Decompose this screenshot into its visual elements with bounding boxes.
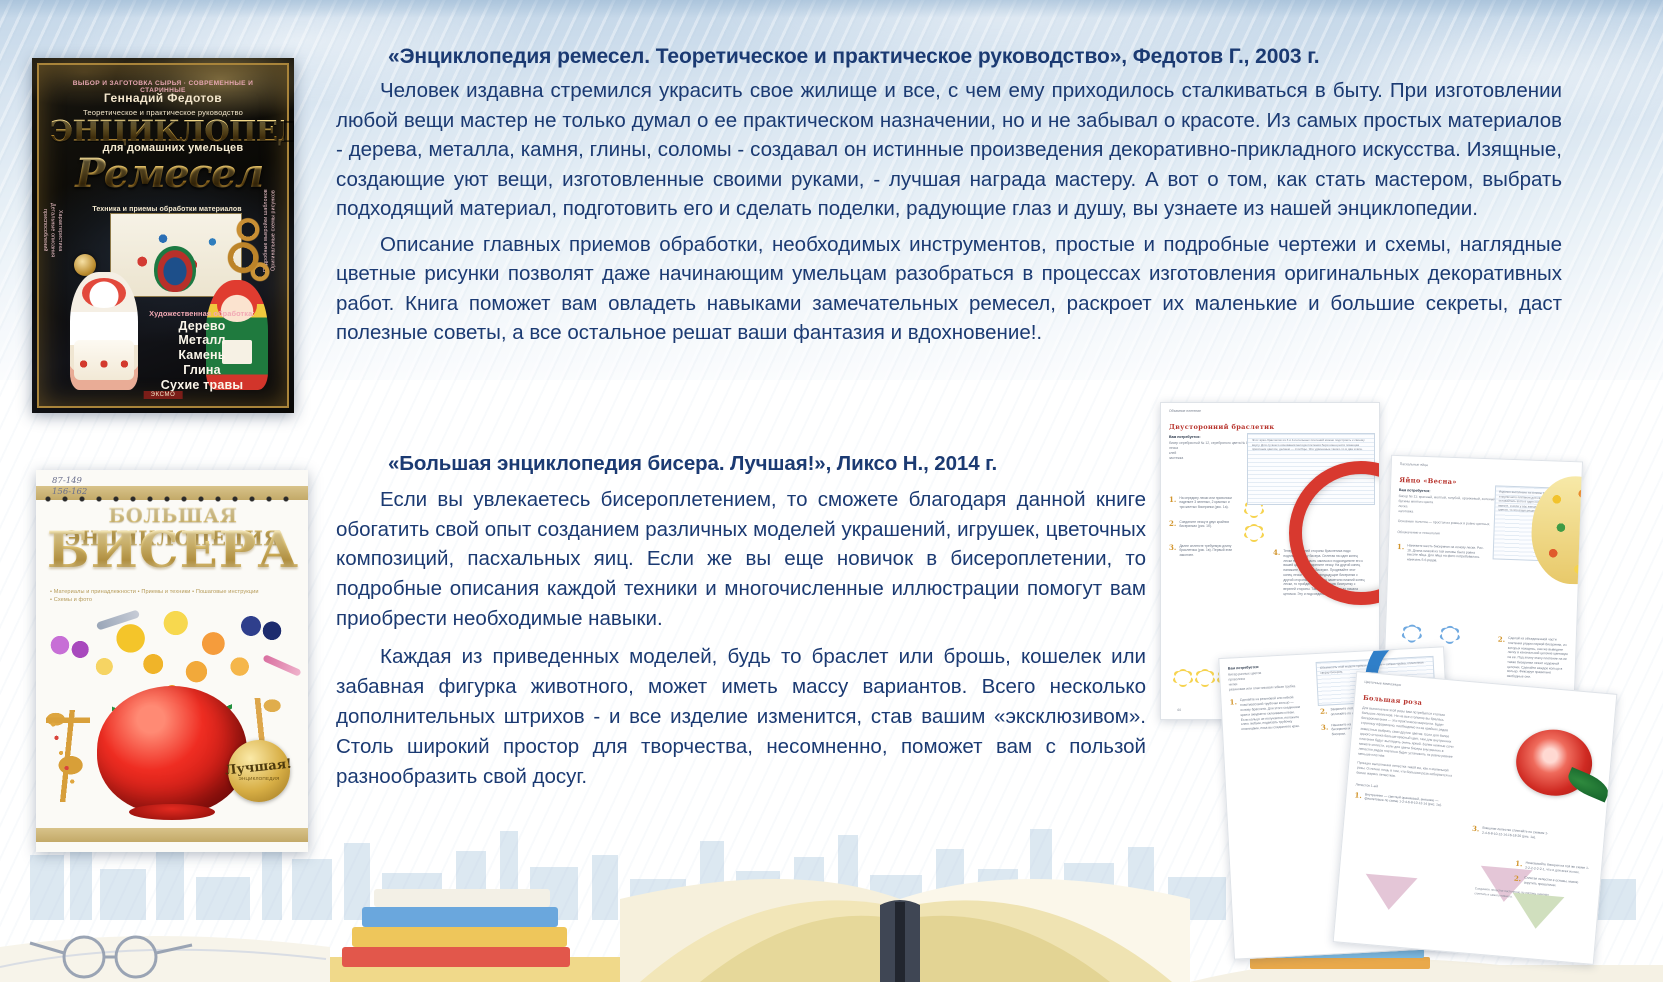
section-2-heading: «Большая энциклопедия бисера. Лучшая!», … — [388, 451, 1146, 477]
step-2-block: 2. Сделай из объединенной части плетения… — [1496, 636, 1569, 681]
cover-materials-label: Художественная обработка: — [132, 310, 272, 319]
petal-triangle-diagram — [1363, 874, 1418, 912]
cover-material-item: Металл — [132, 333, 272, 348]
beaded-dragonfly-pink — [262, 654, 301, 677]
top-blue-edge — [0, 0, 1663, 18]
step-text: Внешние лепестки сплетайте по схемам 1-2… — [1482, 826, 1550, 841]
page-step: 2. Сделай из объединенной части плетения… — [1496, 636, 1569, 681]
step-text: На середину лески или проволоки наденьте… — [1179, 496, 1233, 516]
section-1-paragraph-2: Описание главных приемов обработки, необ… — [336, 230, 1562, 348]
page-body: Для выполнения этой розы вам потребуется… — [1358, 706, 1458, 765]
beaded-strand — [42, 716, 98, 800]
page-step: 2. Сплетая лепестки в основы, можно скру… — [1513, 875, 1588, 891]
page-running-head: Объемное плетение — [1169, 409, 1371, 414]
page-body-2: Принцип выполнения лепестка такой же, ка… — [1356, 761, 1453, 785]
bead-flower-diagrams — [1404, 626, 1458, 642]
step-text: Нанижите шесть бисеринок на основу лески… — [1407, 543, 1486, 565]
section-1-heading: «Энциклопедия ремесел. Теоретическое и п… — [388, 44, 1562, 70]
page-title: Двусторонний браслетик — [1169, 423, 1371, 431]
step-text: Далее сплетите требуемую длину браслетик… — [1179, 544, 1233, 558]
cover-materials-list: Художественная обработка: Дерево Металл … — [132, 310, 272, 392]
step-text: Соедините леску в двух крайних бисеринка… — [1179, 520, 1233, 540]
book-section-beads: «Большая энциклопедия бисера. Лучшая!», … — [336, 450, 1146, 792]
page-step: 1. Нанизывайте бисерин на той же схеме 1… — [1515, 860, 1590, 876]
best-badge: Лучшая! ЭНЦИКЛОПЕДИЯ — [228, 740, 290, 802]
step-number: 4. — [1273, 549, 1280, 597]
cover-publisher-logo: ЭКСМО — [144, 391, 183, 399]
collage-page-big-rose: Цветочные композиции Большая роза Для вы… — [1333, 671, 1618, 965]
cover-material-item: Камень — [132, 348, 272, 363]
best-badge-title: Лучшая! — [225, 758, 293, 778]
cover2-handwritten-note: 87-149 156-162 — [52, 476, 87, 497]
step-number: 1. — [1229, 699, 1238, 733]
red-glass-vase — [97, 686, 247, 814]
step-text: Сделай из объединенной части плетения ря… — [1507, 636, 1570, 681]
cover-title-script: Ремесел — [50, 150, 288, 197]
step-number: 1. — [1169, 496, 1176, 516]
step-number: 3. — [1472, 825, 1480, 835]
book-page-collage: Объемное плетение Двусторонний браслетик… — [1148, 396, 1663, 956]
step-text: Нанизывайте бисерин на той же схеме 1-2-… — [1525, 861, 1589, 876]
cover2-bottom-band — [36, 828, 308, 842]
cover-ceramic-figure-photo — [70, 272, 138, 390]
step-number: 2. — [1513, 875, 1521, 885]
cover-straw-weaving-photo — [218, 214, 278, 292]
step-3-block: 3. Внешние лепестки сплетайте по схемам … — [1472, 825, 1551, 841]
step-text: Сделайте из резиновой или гибкой пластма… — [1240, 695, 1304, 732]
step-text: Внутренние — светлый оранжевый, внешние … — [1364, 792, 1449, 809]
right-steps-block: 1. Нанизывайте бисерин на той же схеме 1… — [1510, 860, 1590, 933]
cover-material-item: Глина — [132, 363, 272, 378]
section-1-heading-wrap: «Энциклопедия ремесел. Теоретическое и п… — [336, 44, 1562, 70]
book-section-crafts: «Энциклопедия ремесел. Теоретическое и п… — [336, 44, 1562, 348]
step-number: 1. — [1515, 860, 1523, 870]
cover-technique-line: Техника и приемы обработки материалов — [58, 206, 276, 213]
cover2-artwork: Лучшая! ЭНЦИКЛОПЕДИЯ — [36, 602, 308, 824]
step-number: 2. — [1320, 707, 1328, 717]
cover2-title-main: БИСЕРА — [44, 520, 302, 579]
page-step: 3. Внешние лепестки сплетайте по схемам … — [1472, 825, 1551, 841]
step-number: 3. — [1321, 723, 1329, 738]
beaded-rose-photo — [1513, 726, 1594, 798]
best-badge-subtitle: ЭНЦИКЛОПЕДИЯ — [238, 776, 279, 781]
bead-diagram — [1246, 526, 1262, 540]
cover-author: Геннадий Федотов — [32, 91, 294, 105]
step-number: 1. — [1396, 543, 1404, 562]
step-number: 2. — [1496, 636, 1505, 679]
book-cover-encyclopedia-of-crafts: Характеристика Детальные описания приспо… — [32, 58, 294, 413]
page-running-head: Пасхальные яйца — [1400, 462, 1574, 473]
petal-triangle-diagram-green — [1510, 893, 1587, 933]
section-2-paragraph-2: Каждая из приведенных моделей, будь то б… — [336, 642, 1146, 792]
book-cover-encyclopedia-of-beads: 87-149 156-162 БОЛЬШАЯ ЭНЦИКЛОПЕДИЯ БИСЕ… — [36, 470, 308, 852]
section-2-paragraph-1: Если вы увлекаетесь бисероплетением, то … — [336, 485, 1146, 635]
page-number: 44 — [1177, 708, 1181, 713]
step-number: 2. — [1169, 520, 1176, 540]
cover-rooster-motif — [154, 246, 196, 292]
step-number: 3. — [1169, 544, 1176, 558]
cover-material-item: Дерево — [132, 319, 272, 334]
step-number: 1. — [1354, 791, 1362, 801]
section-1-paragraph-1: Человек издавна стремился украсить свое … — [336, 76, 1562, 224]
section-2-heading-wrap: «Большая энциклопедия бисера. Лучшая!», … — [336, 451, 1146, 477]
step-text: Сплетая лепестки в основы, можно скрутит… — [1524, 876, 1588, 891]
